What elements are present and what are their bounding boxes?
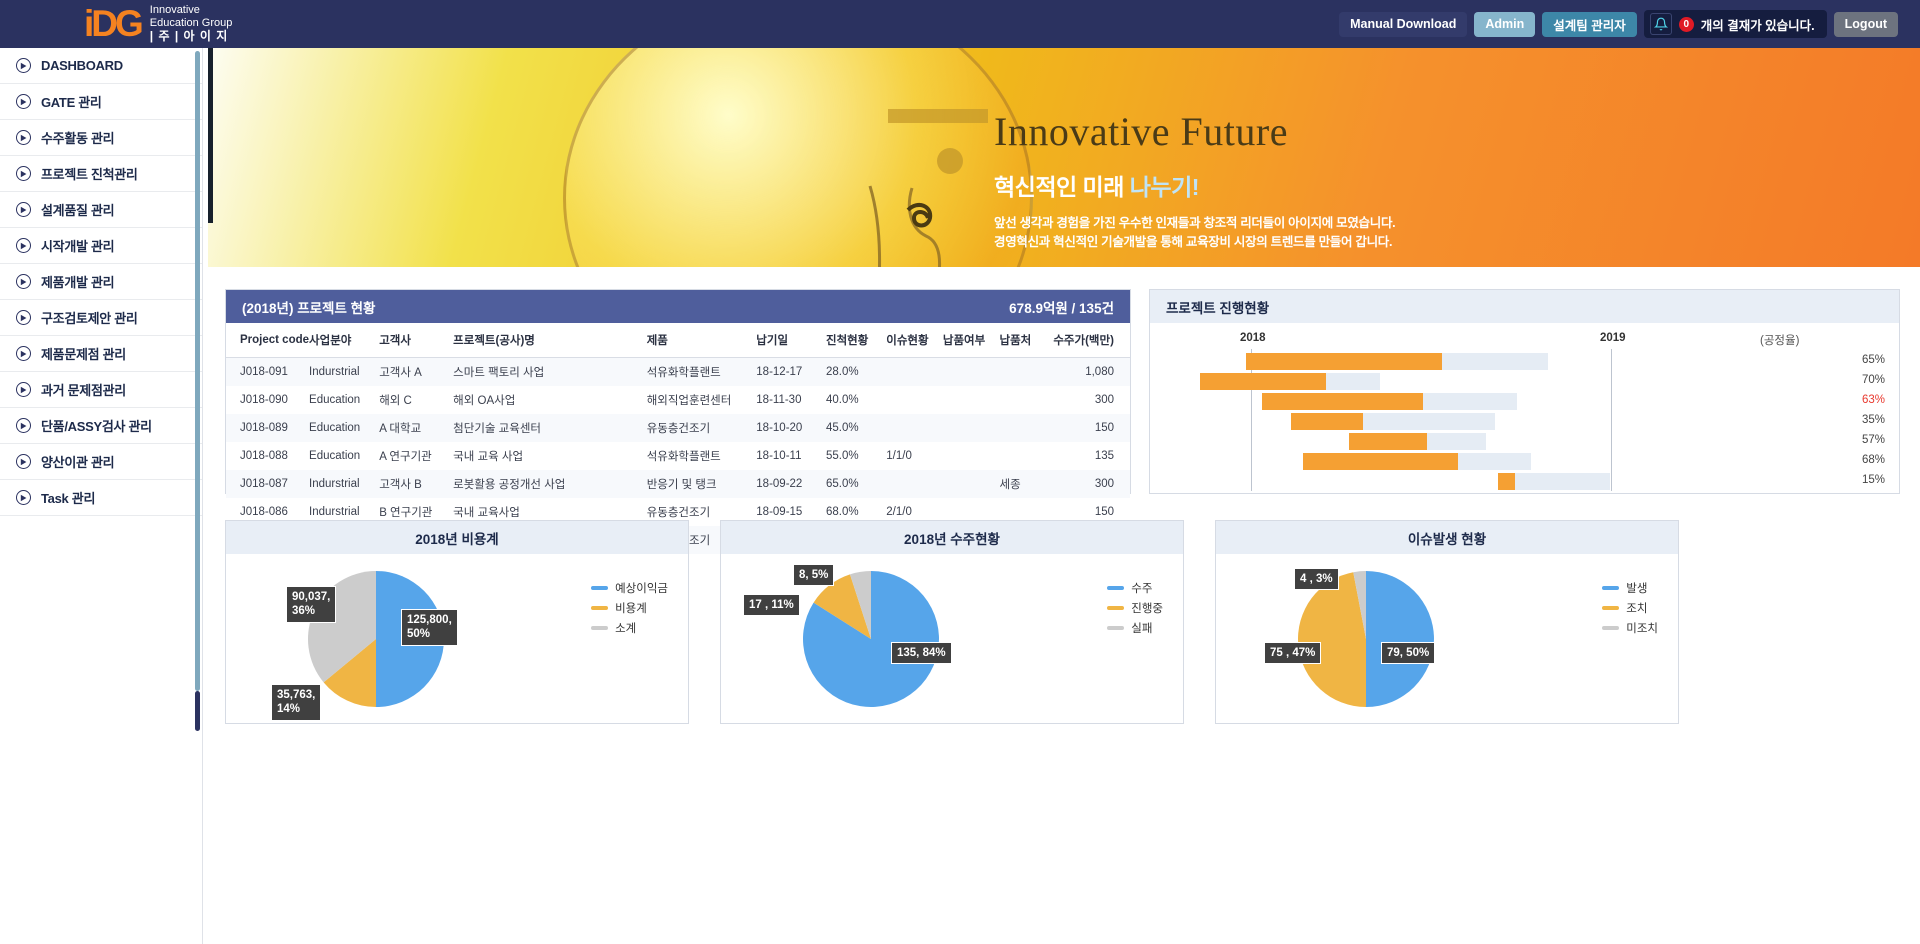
cell-issue: [886, 414, 943, 442]
sidebar-item-label: 제품문제점 관리: [41, 344, 126, 363]
pie-data-label-0: 79, 50%: [1381, 642, 1435, 664]
main-content-area: Innovative Future 혁신적인 미래 나누기! 앞선 생각과 경험…: [203, 48, 1920, 944]
gantt-panel-title: 프로젝트 진행현황: [1166, 297, 1269, 317]
sidebar-item-label: 양산이관 관리: [41, 452, 114, 471]
cell-proj: 국내 교육 사업: [453, 442, 647, 470]
cell-proj: 스마트 팩토리 사업: [453, 358, 647, 387]
gantt-row-6[interactable]: [1498, 473, 1611, 490]
gantt-unit-label: (공정율): [1760, 332, 1799, 348]
table-row[interactable]: J018-088EducationA 연구기관국내 교육 사업석유화학플랜트18…: [226, 442, 1130, 470]
sidebar-item-3[interactable]: 프로젝트 진척관리: [0, 156, 202, 192]
col-header-2: 고객사: [379, 323, 453, 358]
bulb-filament-icon: [848, 178, 978, 267]
sidebar-item-label: Task 관리: [41, 488, 95, 507]
col-header-0: Project code: [226, 323, 309, 358]
sidebar-item-label: 과거 문제점관리: [41, 380, 126, 399]
gantt-axis-2018: 2018: [1240, 332, 1266, 344]
gantt-panel-header: 프로젝트 진행현황: [1150, 290, 1899, 323]
pie-chart-1: 135, 84%17 , 11%8, 5% 수주 진행중 실패: [721, 554, 1183, 724]
logo-line-2: Education Group: [150, 17, 233, 30]
sidebar-item-1[interactable]: GATE 관리: [0, 84, 202, 120]
sidebar-scrollbar-thumb[interactable]: [195, 691, 200, 731]
hero-subtitle-white: 혁신적인 미래: [994, 174, 1130, 200]
team-manager-button[interactable]: 설계팀 관리자: [1542, 12, 1636, 37]
header-actions: Manual Download Admin 설계팀 관리자 0 개의 결재가 있…: [1339, 10, 1920, 38]
project-status-panel: (2018년) 프로젝트 현황 678.9억원 / 135건 Project c…: [225, 289, 1131, 494]
gantt-progress-fill: [1200, 373, 1326, 390]
orders-pie-panel: 2018년 수주현황 135, 84%17 , 11%8, 5% 수주 진행중 …: [720, 520, 1184, 724]
arrow-right-icon: [16, 454, 31, 469]
legend-swatch-icon: [1602, 606, 1619, 610]
app-logo[interactable]: iDG Innovative Education Group | 주 | 아 이…: [0, 4, 232, 43]
cell-place: [999, 414, 1053, 442]
sidebar-item-9[interactable]: 과거 문제점관리: [0, 372, 202, 408]
notification-area[interactable]: 0 개의 결재가 있습니다.: [1644, 10, 1827, 38]
hero-banner: Innovative Future 혁신적인 미래 나누기! 앞선 생각과 경험…: [208, 48, 1920, 267]
legend-item-2[interactable]: 미조치: [1602, 620, 1658, 636]
table-row[interactable]: J018-089EducationA 대학교첨단기술 교육센터유동층건조기18-…: [226, 414, 1130, 442]
legend-item-1[interactable]: 비용계: [591, 600, 668, 616]
arrow-right-icon: [16, 202, 31, 217]
cell-code: J018-091: [226, 358, 309, 387]
cell-prog: 40.0%: [826, 386, 886, 414]
cell-deliv: [943, 442, 1000, 470]
bulb-dot-icon: [937, 148, 963, 174]
manual-download-button[interactable]: Manual Download: [1339, 12, 1467, 37]
gantt-progress-label-2: 63%: [1841, 394, 1885, 406]
gantt-gridline-2018: [1251, 349, 1252, 491]
cell-issue: [886, 386, 943, 414]
legend-swatch-icon: [1107, 586, 1124, 590]
cell-price: 300: [1053, 386, 1130, 414]
col-header-3: 프로젝트(공사)명: [453, 323, 647, 358]
gantt-progress-fill: [1262, 393, 1422, 410]
col-header-8: 납품여부: [943, 323, 1000, 358]
legend-label: 조치: [1626, 600, 1647, 616]
sidebar-item-2[interactable]: 수주활동 관리: [0, 120, 202, 156]
cell-deliv: [943, 414, 1000, 442]
pie-panel-header-1: 2018년 수주현황: [721, 521, 1183, 554]
legend-item-0[interactable]: 예상이익금: [591, 580, 668, 596]
cell-issue: [886, 470, 943, 498]
arrow-right-icon: [16, 130, 31, 145]
cell-price: 300: [1053, 470, 1130, 498]
cell-proj: 첨단기술 교육센터: [453, 414, 647, 442]
sidebar-item-label: 제품개발 관리: [41, 272, 114, 291]
logo-text-block: Innovative Education Group | 주 | 아 이 지: [150, 4, 233, 43]
cell-prog: 55.0%: [826, 442, 886, 470]
legend-label: 비용계: [615, 600, 647, 616]
issues-pie-panel: 이슈발생 현황 79, 50%75 , 47%4 , 3% 발생 조치 미조치: [1215, 520, 1679, 724]
legend-label: 예상이익금: [615, 580, 668, 596]
cell-prog: 28.0%: [826, 358, 886, 387]
cell-cust: 해외 C: [379, 386, 453, 414]
cell-prod: 석유화학플랜트: [647, 358, 757, 387]
arrow-right-icon: [16, 94, 31, 109]
legend-swatch-icon: [1107, 626, 1124, 630]
pie-data-label-0: 125,800,50%: [401, 609, 458, 646]
table-header-row: Project code사업분야고객사프로젝트(공사)명제품납기일진척현황이슈현…: [226, 323, 1130, 358]
col-header-6: 진척현황: [826, 323, 886, 358]
pie-data-label-1: 17 , 11%: [743, 594, 800, 616]
pie-legend: 수주 진행중 실패: [1107, 580, 1163, 640]
bell-icon[interactable]: [1650, 13, 1672, 35]
gantt-progress-fill: [1349, 433, 1427, 450]
cell-due: 18-12-17: [756, 358, 826, 387]
legend-item-1[interactable]: 조치: [1602, 600, 1658, 616]
gantt-track: [1498, 473, 1611, 490]
cell-prog: 65.0%: [826, 470, 886, 498]
sidebar-item-label: 구조검토제안 관리: [41, 308, 138, 327]
sidebar-item-5[interactable]: 시작개발 관리: [0, 228, 202, 264]
gantt-progress-fill: [1498, 473, 1515, 490]
cell-price: 150: [1053, 414, 1130, 442]
legend-label: 소계: [615, 620, 636, 636]
cell-place: [999, 442, 1053, 470]
sidebar-scrollbar-track[interactable]: [195, 51, 200, 691]
logout-button[interactable]: Logout: [1834, 12, 1898, 37]
legend-swatch-icon: [591, 626, 608, 630]
gantt-progress-label-4: 57%: [1841, 434, 1885, 446]
hero-left-accent-bar: [208, 48, 213, 223]
pie-data-label-2: 8, 5%: [793, 564, 834, 586]
gantt-row-2[interactable]: [1262, 393, 1516, 410]
pie-panel-title: 이슈발생 현황: [1408, 528, 1486, 548]
cell-biz: Education: [309, 414, 379, 442]
left-sidebar-nav: DASHBOARD GATE 관리 수주활동 관리 프로젝트 진척관리 설계품질…: [0, 48, 203, 944]
gantt-track: [1262, 393, 1516, 410]
cell-proj: 해외 OA사업: [453, 386, 647, 414]
cell-code: J018-089: [226, 414, 309, 442]
cell-cust: 고객사 B: [379, 470, 453, 498]
cell-place: [999, 386, 1053, 414]
gantt-row-3[interactable]: [1291, 413, 1495, 430]
cell-due: 18-09-22: [756, 470, 826, 498]
sidebar-item-0[interactable]: DASHBOARD: [0, 48, 202, 84]
pie-svg: [1216, 554, 1516, 724]
hero-text-block: Innovative Future 혁신적인 미래 나누기! 앞선 생각과 경험…: [994, 108, 1395, 252]
cell-prod: 반응기 및 탱크: [647, 470, 757, 498]
notification-text: 개의 결재가 있습니다.: [1701, 15, 1815, 34]
sidebar-item-11[interactable]: 양산이관 관리: [0, 444, 202, 480]
legend-item-0[interactable]: 수주: [1107, 580, 1163, 596]
legend-swatch-icon: [1107, 606, 1124, 610]
cost-pie-panel: 2018년 비용계 125,800,50%35,763,14%90,037,36…: [225, 520, 689, 724]
cell-biz: Education: [309, 442, 379, 470]
pie-panel-header-0: 2018년 비용계: [226, 521, 688, 554]
gantt-track: [1246, 353, 1548, 370]
gantt-progress-fill: [1246, 353, 1443, 370]
sidebar-item-label: 프로젝트 진척관리: [41, 164, 138, 183]
cell-cust: A 대학교: [379, 414, 453, 442]
project-progress-panel: 프로젝트 진행현황 2018 2019 (공정율) 65% 70%: [1149, 289, 1900, 494]
notification-count-badge: 0: [1679, 17, 1694, 32]
arrow-right-icon: [16, 490, 31, 505]
sidebar-item-10[interactable]: 단품/ASSY검사 관리: [0, 408, 202, 444]
pie-data-label-1: 75 , 47%: [1264, 642, 1321, 664]
legend-item-0[interactable]: 발생: [1602, 580, 1658, 596]
logo-mark: iDG: [84, 5, 141, 42]
cell-deliv: [943, 358, 1000, 387]
sidebar-item-12[interactable]: Task 관리: [0, 480, 202, 516]
hero-subtitle: 혁신적인 미래 나누기!: [994, 168, 1395, 202]
sidebar-item-6[interactable]: 제품개발 관리: [0, 264, 202, 300]
pie-legend: 발생 조치 미조치: [1602, 580, 1658, 640]
arrow-right-icon: [16, 346, 31, 361]
gantt-chart: 2018 2019 (공정율) 65% 70%: [1150, 323, 1899, 494]
cell-cust: A 연구기관: [379, 442, 453, 470]
col-header-5: 납기일: [756, 323, 826, 358]
table-row[interactable]: J018-087Indurstrial고객사 B로봇활용 공정개선 사업반응기 …: [226, 470, 1130, 498]
gantt-track: [1303, 453, 1531, 470]
arrow-right-icon: [16, 166, 31, 181]
legend-label: 실패: [1131, 620, 1152, 636]
arrow-right-icon: [16, 418, 31, 433]
pie-panel-header-2: 이슈발생 현황: [1216, 521, 1678, 554]
col-header-7: 이슈현황: [886, 323, 943, 358]
col-header-10: 수주가(백만): [1053, 323, 1130, 358]
cell-due: 18-11-30: [756, 386, 826, 414]
gantt-progress-label-5: 68%: [1841, 454, 1885, 466]
cell-issue: 1/1/0: [886, 442, 943, 470]
gantt-progress-label-0: 65%: [1841, 354, 1885, 366]
col-header-1: 사업분야: [309, 323, 379, 358]
legend-swatch-icon: [1602, 586, 1619, 590]
gantt-track: [1200, 373, 1380, 390]
cell-price: 1,080: [1053, 358, 1130, 387]
cell-price: 135: [1053, 442, 1130, 470]
pie-svg: [721, 554, 1021, 724]
cell-cust: 고객사 A: [379, 358, 453, 387]
bulb-cap-icon: [888, 109, 988, 123]
hero-paragraph-line-2: 경영혁신과 혁신적인 기술개발을 통해 교육장비 시장의 트렌드를 만들어 갑니…: [994, 233, 1395, 252]
arrow-right-icon: [16, 58, 31, 73]
cell-due: 18-10-11: [756, 442, 826, 470]
pie-data-label-2: 90,037,36%: [286, 586, 336, 623]
cell-place: [999, 358, 1053, 387]
legend-swatch-icon: [591, 606, 608, 610]
legend-label: 미조치: [1626, 620, 1658, 636]
top-header-bar: iDG Innovative Education Group | 주 | 아 이…: [0, 0, 1920, 48]
gantt-track: [1291, 413, 1495, 430]
cell-biz: Education: [309, 386, 379, 414]
pie-panel-title: 2018년 수주현황: [904, 528, 1000, 548]
legend-swatch-icon: [1602, 626, 1619, 630]
table-row[interactable]: J018-090Education해외 C해외 OA사업해외직업훈련센터18-1…: [226, 386, 1130, 414]
cell-prod: 유동층건조기: [647, 414, 757, 442]
table-row[interactable]: J018-091Indurstrial고객사 A스마트 팩토리 사업석유화학플랜…: [226, 358, 1130, 387]
pie-slice-1[interactable]: [1298, 572, 1366, 707]
legend-label: 수주: [1131, 580, 1152, 596]
col-header-4: 제품: [647, 323, 757, 358]
gantt-gridline-2019: [1611, 349, 1612, 491]
gantt-progress-fill: [1303, 453, 1458, 470]
hero-title: Innovative Future: [994, 108, 1395, 156]
hero-subtitle-accent: 나누기!: [1130, 174, 1199, 200]
sidebar-item-label: GATE 관리: [41, 92, 102, 111]
legend-label: 발생: [1626, 580, 1647, 596]
arrow-right-icon: [16, 238, 31, 253]
arrow-right-icon: [16, 382, 31, 397]
cell-place: 세종: [999, 470, 1053, 498]
cell-prod: 석유화학플랜트: [647, 442, 757, 470]
logo-line-3: | 주 | 아 이 지: [150, 30, 233, 44]
cell-proj: 로봇활용 공정개선 사업: [453, 470, 647, 498]
pie-data-label-0: 135, 84%: [891, 642, 952, 664]
sidebar-item-label: 수주활동 관리: [41, 128, 114, 147]
col-header-9: 납품처: [999, 323, 1053, 358]
cell-prod: 해외직업훈련센터: [647, 386, 757, 414]
sidebar-item-4[interactable]: 설계품질 관리: [0, 192, 202, 228]
pie-chart-0: 125,800,50%35,763,14%90,037,36% 예상이익금 비용…: [226, 554, 688, 724]
project-panel-title: (2018년) 프로젝트 현황: [242, 297, 375, 317]
arrow-right-icon: [16, 310, 31, 325]
cell-code: J018-090: [226, 386, 309, 414]
legend-item-2[interactable]: 실패: [1107, 620, 1163, 636]
admin-button[interactable]: Admin: [1474, 12, 1535, 37]
logo-line-1: Innovative: [150, 4, 233, 17]
gantt-progress-label-1: 70%: [1841, 374, 1885, 386]
legend-label: 진행중: [1131, 600, 1163, 616]
sidebar-item-7[interactable]: 구조검토제안 관리: [0, 300, 202, 336]
project-table-head: Project code사업분야고객사프로젝트(공사)명제품납기일진척현황이슈현…: [226, 323, 1130, 358]
gantt-progress-label-3: 35%: [1841, 414, 1885, 426]
gantt-axis-2019: 2019: [1600, 332, 1626, 344]
gantt-row-1[interactable]: [1200, 373, 1380, 390]
pie-chart-2: 79, 50%75 , 47%4 , 3% 발생 조치 미조치: [1216, 554, 1678, 724]
cell-issue: [886, 358, 943, 387]
pie-data-label-1: 35,763,14%: [271, 684, 321, 721]
cell-deliv: [943, 470, 1000, 498]
cell-biz: Indurstrial: [309, 358, 379, 387]
hero-paragraph-line-1: 앞선 생각과 경험을 가진 우수한 인재들과 창조적 리더들이 아이지에 모였습…: [994, 214, 1395, 233]
gantt-row-5[interactable]: [1303, 453, 1531, 470]
gantt-progress-label-6: 15%: [1841, 474, 1885, 486]
sidebar-item-label: DASHBOARD: [41, 58, 123, 73]
cell-code: J018-088: [226, 442, 309, 470]
cell-due: 18-10-20: [756, 414, 826, 442]
legend-item-1[interactable]: 진행중: [1107, 600, 1163, 616]
pie-data-label-2: 4 , 3%: [1294, 568, 1339, 590]
cell-prog: 45.0%: [826, 414, 886, 442]
gantt-track: [1349, 433, 1486, 450]
project-panel-summary: 678.9억원 / 135건: [1009, 297, 1114, 317]
gantt-progress-fill: [1291, 413, 1362, 430]
cell-biz: Indurstrial: [309, 470, 379, 498]
cell-code: J018-087: [226, 470, 309, 498]
pie-legend: 예상이익금 비용계 소계: [591, 580, 668, 640]
gantt-row-0[interactable]: [1246, 353, 1548, 370]
project-panel-header: (2018년) 프로젝트 현황 678.9억원 / 135건: [226, 290, 1130, 323]
pie-panel-title: 2018년 비용계: [415, 528, 498, 548]
pie-slice-0[interactable]: [1366, 571, 1434, 707]
legend-swatch-icon: [591, 586, 608, 590]
sidebar-item-label: 단품/ASSY검사 관리: [41, 416, 152, 435]
legend-item-2[interactable]: 소계: [591, 620, 668, 636]
gantt-row-4[interactable]: [1349, 433, 1486, 450]
sidebar-item-label: 시작개발 관리: [41, 236, 114, 255]
hero-paragraph: 앞선 생각과 경험을 가진 우수한 인재들과 창조적 리더들이 아이지에 모였습…: [994, 214, 1395, 252]
cell-deliv: [943, 386, 1000, 414]
sidebar-item-8[interactable]: 제품문제점 관리: [0, 336, 202, 372]
sidebar-item-label: 설계품질 관리: [41, 200, 114, 219]
arrow-right-icon: [16, 274, 31, 289]
